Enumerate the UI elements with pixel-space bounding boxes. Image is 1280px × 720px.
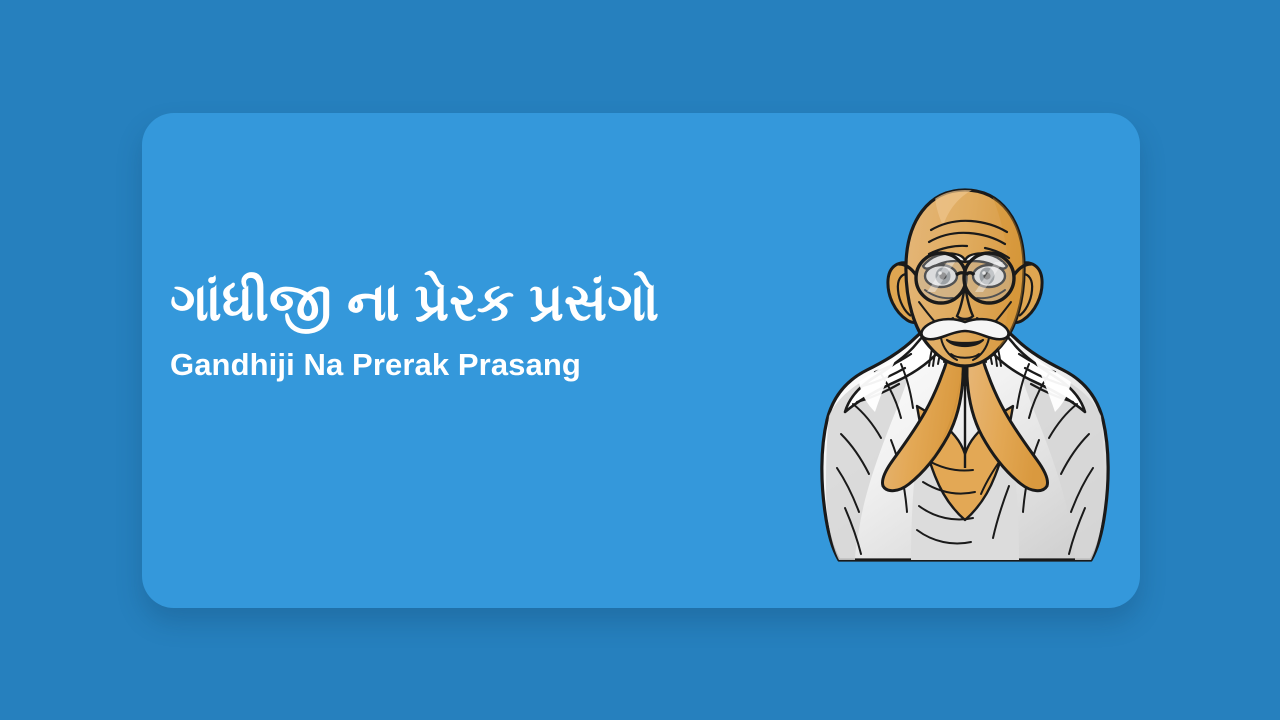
- poster-canvas: ગાંધીજી ના પ્રેરક પ્રસંગો Gandhiji Na Pr…: [0, 0, 1280, 720]
- gandhi-illustration: [815, 168, 1115, 568]
- page-title-gujarati: ગાંધીજી ના પ્રેરક પ્રસંગો: [170, 273, 770, 332]
- title-card: ગાંધીજી ના પ્રેરક પ્રસંગો Gandhiji Na Pr…: [142, 113, 1140, 608]
- title-text-block: ગાંધીજી ના પ્રેરક પ્રસંગો Gandhiji Na Pr…: [170, 273, 770, 382]
- gandhi-namaste-icon: [815, 168, 1115, 568]
- page-subtitle-transliteration: Gandhiji Na Prerak Prasang: [170, 348, 770, 382]
